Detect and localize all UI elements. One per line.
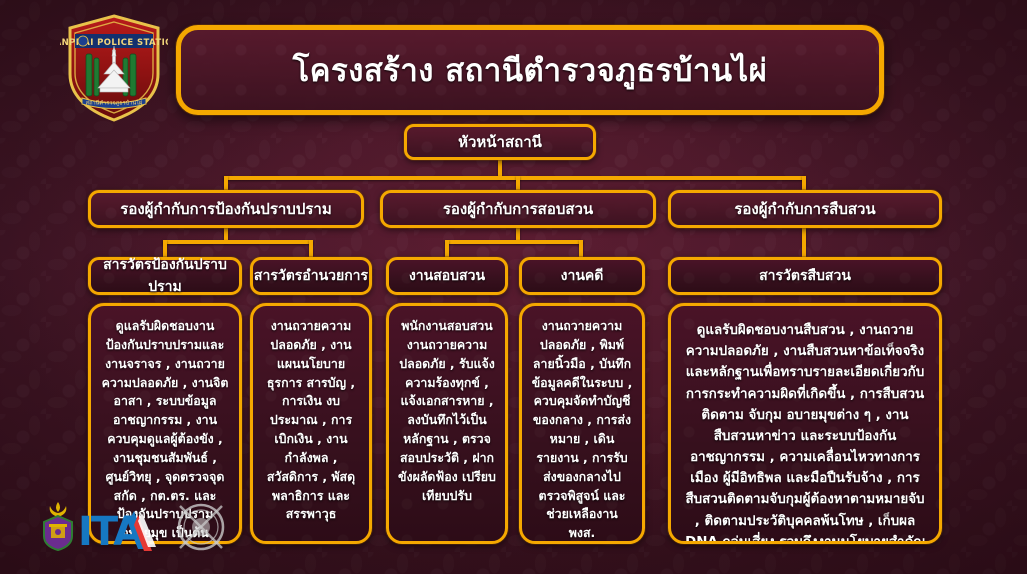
connector-to-section-5 (802, 228, 806, 259)
police-seal-icon (172, 498, 230, 556)
org-node-section-admin[interactable]: สารวัตรอำนวยการ (250, 257, 372, 295)
svg-text:สถานีตำรวจภูธรบ้านไผ่: สถานีตำรวจภูธรบ้านไผ่ (86, 100, 143, 107)
org-node-deputy-detective[interactable]: รองผู้กำกับการสืบสวน (668, 190, 942, 228)
description-text-detective: ดูแลรับผิดชอบงานสืบสวน , งานถวายความปลอด… (683, 320, 927, 544)
org-node-section-inquiry[interactable]: งานสอบสวน (386, 257, 508, 295)
connector-deputy-bus (224, 176, 804, 180)
description-text-inquiry: พนักงานสอบสวน งานถวายความปลอดภัย , รับแจ… (398, 317, 496, 505)
ita-logo: ITA (78, 505, 186, 557)
connector-deputy2-bus (445, 240, 583, 244)
org-node-chief[interactable]: หัวหน้าสถานี (404, 124, 596, 160)
org-node-deputy-prevention[interactable]: รองผู้กำกับการป้องกันปราบปราม (88, 190, 364, 228)
police-badge-logo: BANPHAI POLICE STATION สถานีตำรวจภูธ (60, 12, 168, 124)
org-node-section-case[interactable]: งานคดี (519, 257, 645, 295)
connector-deputy1-bus (163, 240, 313, 244)
description-panel-admin: งานถวายความปลอดภัย , งานแผนนโยบาย ธุรการ… (250, 303, 372, 544)
description-text-admin: งานถวายความปลอดภัย , งานแผนนโยบาย ธุรการ… (262, 317, 360, 524)
description-panel-case: งานถวายความปลอดภัย , พิมพ์ลายนิ้วมือ , บ… (519, 303, 645, 544)
description-panel-detective: ดูแลรับผิดชอบงานสืบสวน , งานถวายความปลอด… (668, 303, 942, 544)
org-node-deputy-investigation[interactable]: รองผู้กำกับการสอบสวน (380, 190, 656, 228)
description-text-case: งานถวายความปลอดภัย , พิมพ์ลายนิ้วมือ , บ… (531, 317, 633, 543)
garuda-emblem-icon (38, 500, 78, 552)
description-panel-inquiry: พนักงานสอบสวน งานถวายความปลอดภัย , รับแจ… (386, 303, 508, 544)
org-node-section-detective[interactable]: สารวัตรสืบสวน (668, 257, 942, 295)
page-background: BANPHAI POLICE STATION สถานีตำรวจภูธ (0, 0, 1027, 574)
page-title: โครงสร้าง สถานีตำรวจภูธรบ้านไผ่ (176, 25, 884, 115)
org-node-section-prevention[interactable]: สารวัตรป้องกันปราบปราม (88, 257, 242, 295)
